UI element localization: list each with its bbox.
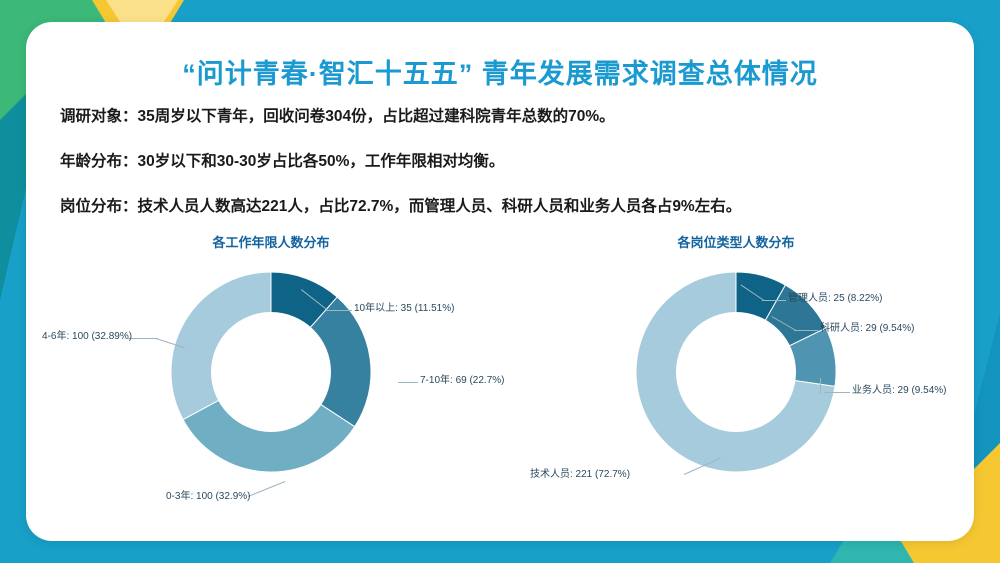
leader-line-7to10 [398,382,418,383]
leader-line-4to6 [128,338,158,339]
chart-work-years-distribution: 各工作年限人数分布 10年以上: 35 (11.51%) 7-10年: 69 (… [36,232,506,522]
chart-title-work-years: 各工作年限人数分布 [36,232,506,251]
donut-svg-work-years [165,266,377,478]
chart-job-type-distribution: 各岗位类型人数分布 管理人员: 25 (8.22%) 科研人员: 29 (9.5… [506,232,966,522]
body-paragraph-survey-target: 调研对象：35周岁以下青年，回收问卷304份，占比超过建科院青年总数的70%。 [60,104,950,126]
callout-label-0-to-3-years: 0-3年: 100 (32.9%) [166,492,251,502]
callout-label-research-staff: 科研人员: 29 (9.54%) [820,324,914,334]
body-paragraph-role-distribution: 岗位分布：技术人员人数高达221人，占比72.7%，而管理人员、科研人员和业务人… [60,194,950,216]
leader-line-management [762,300,786,301]
content-card: “问计青春·智汇十五五” 青年发展需求调查总体情况 调研对象：35周岁以下青年，… [26,22,974,541]
callout-label-10-years-plus: 10年以上: 35 (11.51%) [354,304,454,314]
callout-label-technical-staff: 技术人员: 221 (72.7%) [530,470,630,480]
leader-line-0to3 [248,481,285,497]
callout-label-business-staff: 业务人员: 29 (9.54%) [852,386,946,396]
chart-title-job-type: 各岗位类型人数分布 [506,232,966,251]
body-paragraph-age-distribution: 年龄分布：30岁以下和30-30岁占比各50%，工作年限相对均衡。 [60,149,950,171]
slide-canvas: “问计青春·智汇十五五” 青年发展需求调查总体情况 调研对象：35周岁以下青年，… [0,0,1000,563]
callout-label-4-to-6-years: 4-6年: 100 (32.89%) [42,332,132,342]
page-title: “问计青春·智汇十五五” 青年发展需求调查总体情况 [26,52,974,91]
leader-line-business [824,392,850,393]
callout-label-7-to-10-years: 7-10年: 69 (22.7%) [420,376,505,386]
leader-line-research [794,330,818,331]
donut-chart-work-years [165,266,377,478]
callout-label-management-staff: 管理人员: 25 (8.22%) [788,294,882,304]
leader-line-10plus [326,310,352,311]
leader-kink-business [820,378,821,394]
